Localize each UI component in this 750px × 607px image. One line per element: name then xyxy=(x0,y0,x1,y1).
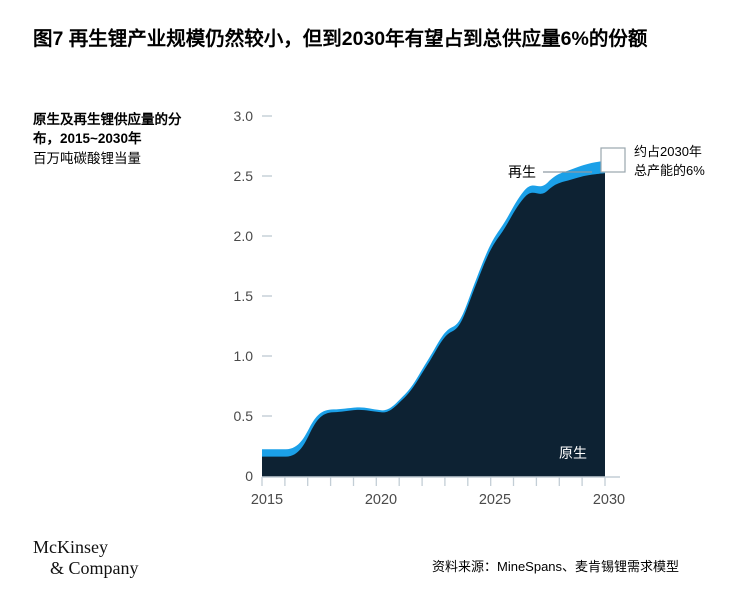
subtitle-heading: 原生及再生锂供应量的分布，2015~2030年 xyxy=(33,110,203,148)
y-tick-label: 3.0 xyxy=(234,108,254,124)
x-tick-label: 2030 xyxy=(593,492,625,508)
x-tick-label: 2025 xyxy=(479,492,511,508)
callout-line-1: 约占2030年 xyxy=(634,144,702,159)
chart-page: 图7 再生锂产业规模仍然较小，但到2030年有望占到总供应量6%的份额 原生及再… xyxy=(0,0,750,607)
y-tick-label: 2.0 xyxy=(234,228,254,244)
callout-bracket xyxy=(601,148,625,172)
y-tick-label: 2.5 xyxy=(234,168,254,184)
subtitle-block: 原生及再生锂供应量的分布，2015~2030年 百万吨碳酸锂当量 xyxy=(33,110,203,168)
callout-line-2: 总产能的6% xyxy=(634,163,705,178)
logo-line-2: & Company xyxy=(33,558,139,579)
y-tick-label: 1.5 xyxy=(234,288,254,304)
x-axis-labels: 2015 2020 2025 2030 xyxy=(251,492,625,508)
y-tick-label: 0 xyxy=(245,468,253,484)
mckinsey-logo: McKinsey & Company xyxy=(33,537,139,579)
y-tick-label: 1.0 xyxy=(234,348,254,364)
page-title: 图7 再生锂产业规模仍然较小，但到2030年有望占到总供应量6%的份额 xyxy=(33,26,723,54)
primary-series-label: 原生 xyxy=(559,445,587,461)
y-tick-label: 0.5 xyxy=(234,408,254,424)
x-tick-label: 2015 xyxy=(251,492,283,508)
recycled-series-label: 再生 xyxy=(508,164,536,180)
x-tick-label: 2020 xyxy=(365,492,397,508)
recycled-series-annotation: 再生 xyxy=(508,164,592,180)
area-chart: 3.0 2.5 2.0 1.5 1.0 0.5 0 xyxy=(0,0,750,607)
area-recycled-total xyxy=(262,161,605,477)
plot-area xyxy=(262,161,605,477)
x-axis-ticks xyxy=(262,477,605,486)
y-axis-labels: 3.0 2.5 2.0 1.5 1.0 0.5 0 xyxy=(234,108,254,484)
source-note: 资料来源：MineSpans、麦肯锡锂需求模型 xyxy=(432,556,679,575)
subtitle-unit: 百万吨碳酸锂当量 xyxy=(33,149,203,168)
y-axis-ticks xyxy=(262,116,272,476)
callout-annotation: 约占2030年 总产能的6% xyxy=(634,144,705,178)
area-primary xyxy=(262,173,605,476)
logo-line-1: McKinsey xyxy=(33,537,139,558)
